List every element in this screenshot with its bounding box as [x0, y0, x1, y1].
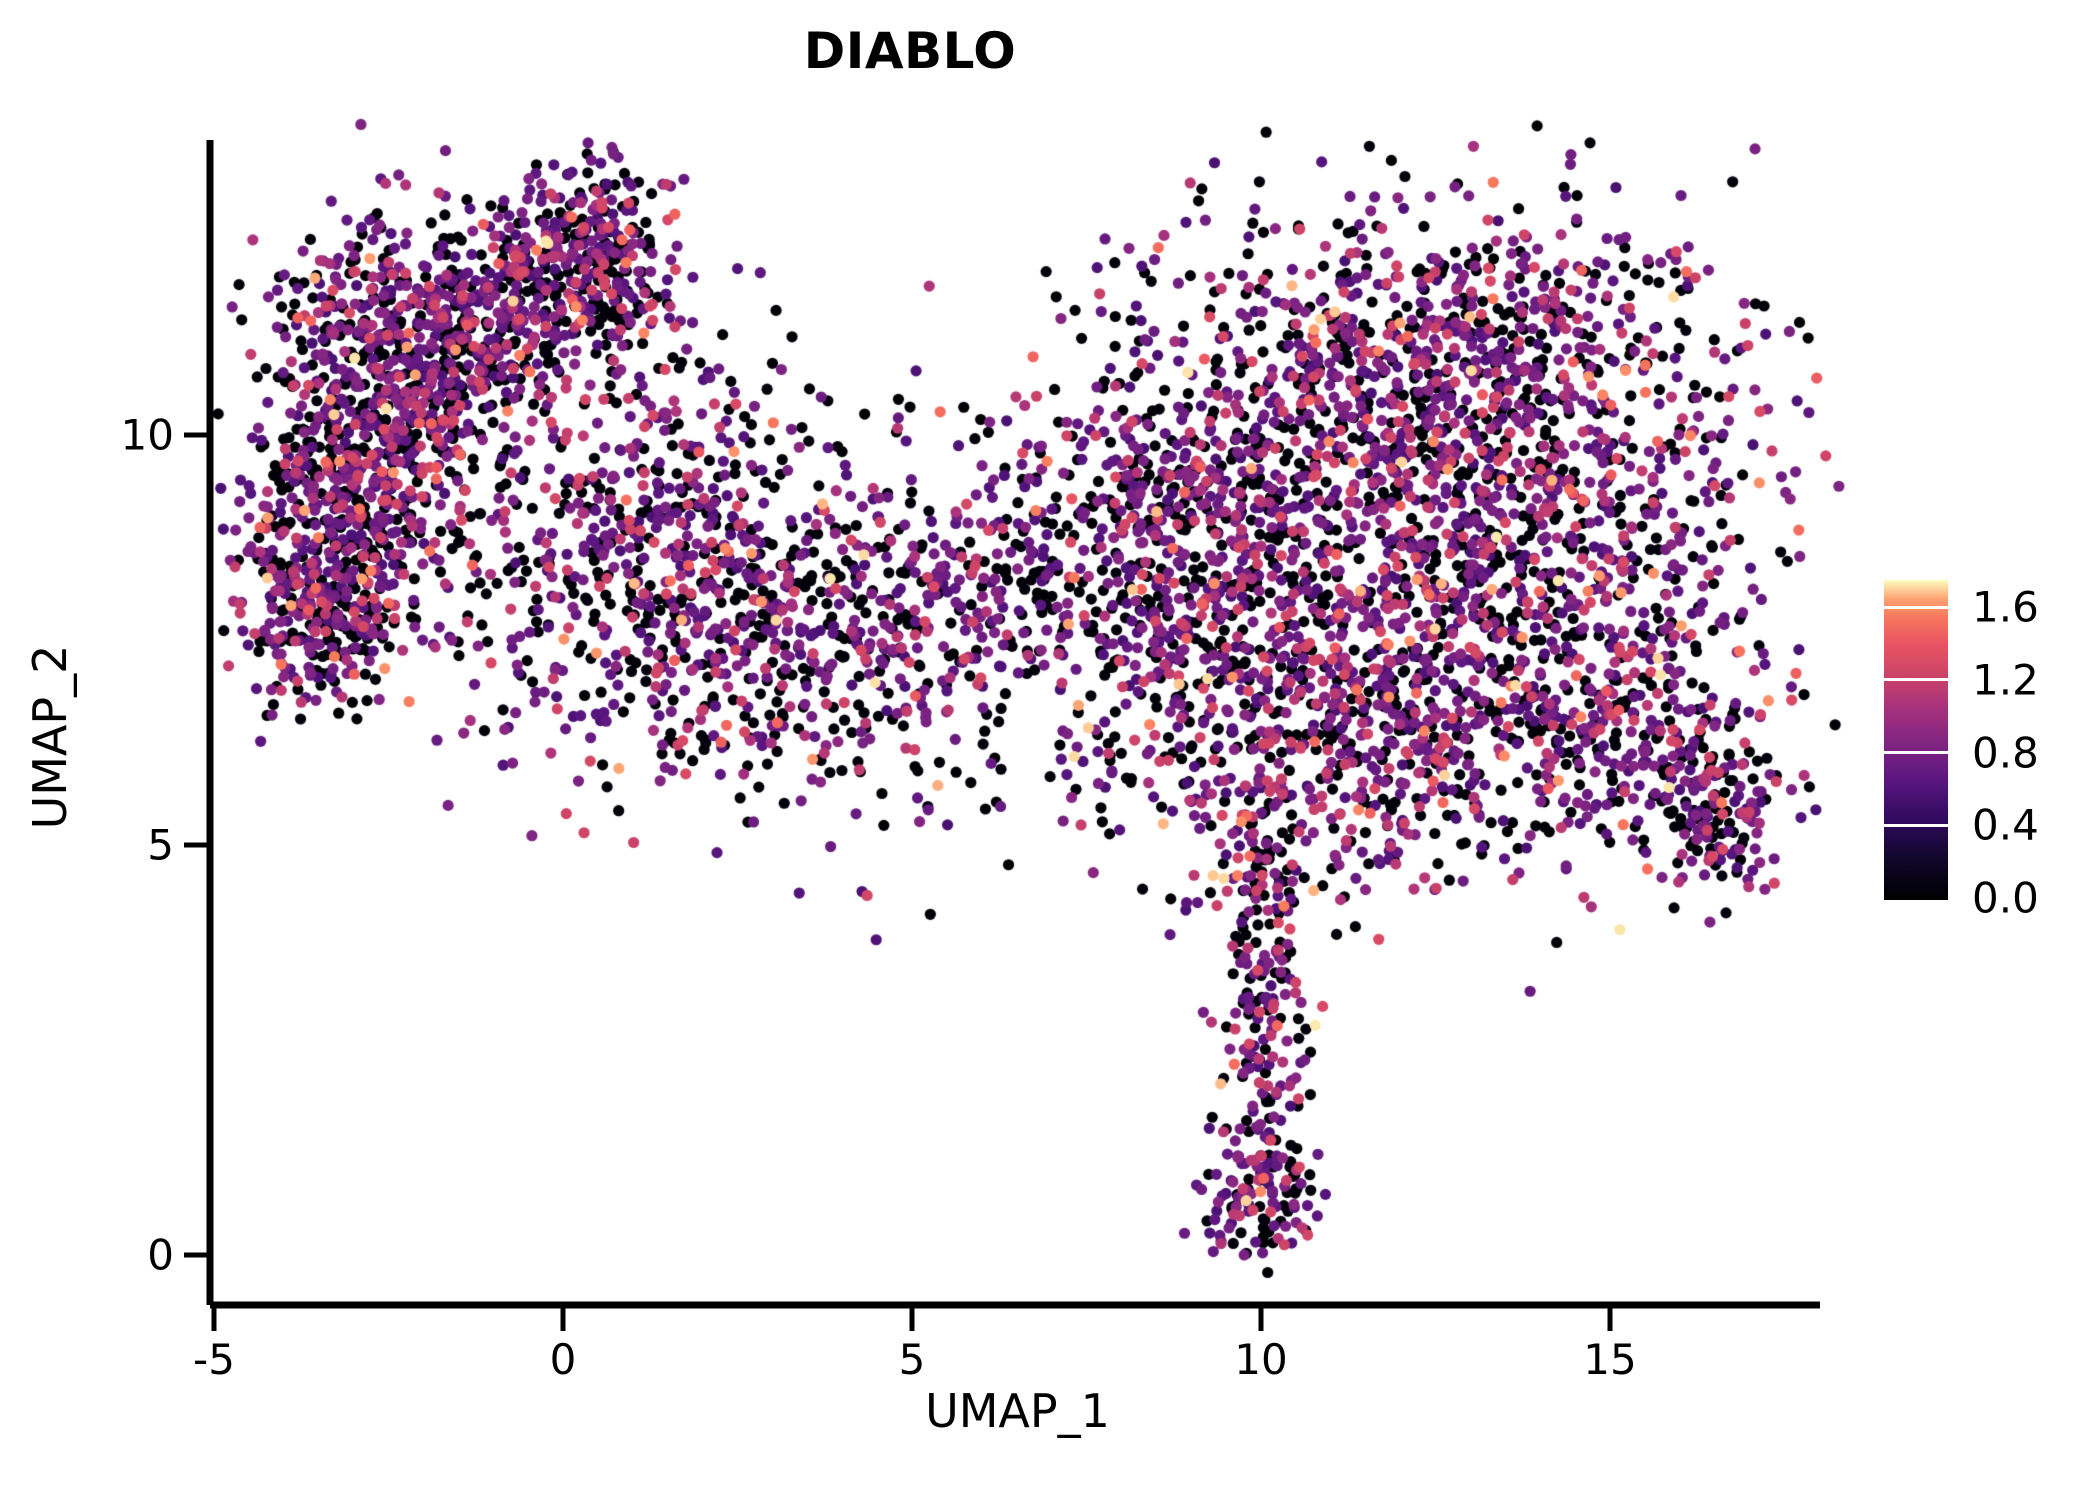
- x-axis-label: UMAP_1: [215, 1384, 1820, 1438]
- x-tick-label: -5: [193, 1335, 235, 1384]
- colorbar-tick-label: 0.0: [1972, 874, 2039, 923]
- colorbar-tick-mark: [1884, 824, 1948, 827]
- scatter-plot-canvas: [0, 0, 2100, 1500]
- umap-feature-plot: DIABLO -50510150510 UMAP_1 UMAP_2 0.00.4…: [0, 0, 2100, 1500]
- x-tick-label: 5: [899, 1335, 926, 1384]
- colorbar-tick-mark: [1884, 678, 1948, 681]
- y-tick-label: 0: [147, 1231, 174, 1280]
- x-tick-label: 0: [550, 1335, 577, 1384]
- x-tick-label: 15: [1583, 1335, 1636, 1384]
- colorbar-tick-mark: [1884, 606, 1948, 609]
- colorbar-tick-label: 1.6: [1972, 583, 2039, 632]
- x-tick-label: 10: [1234, 1335, 1287, 1384]
- colorbar-tick-mark: [1884, 751, 1948, 754]
- y-tick-label: 10: [121, 411, 174, 460]
- colorbar-gradient: [1884, 580, 1948, 898]
- y-axis-label: UMAP_2: [23, 487, 77, 987]
- colorbar-tick-label: 0.8: [1972, 728, 2039, 777]
- colorbar-tick-mark: [1884, 897, 1948, 900]
- colorbar-tick-label: 1.2: [1972, 655, 2039, 704]
- colorbar-tick-label: 0.4: [1972, 801, 2039, 850]
- colorbar: [1884, 580, 1948, 898]
- y-axis-label-wrapper: UMAP_2: [0, 0, 90, 1500]
- y-tick-label: 5: [147, 821, 174, 870]
